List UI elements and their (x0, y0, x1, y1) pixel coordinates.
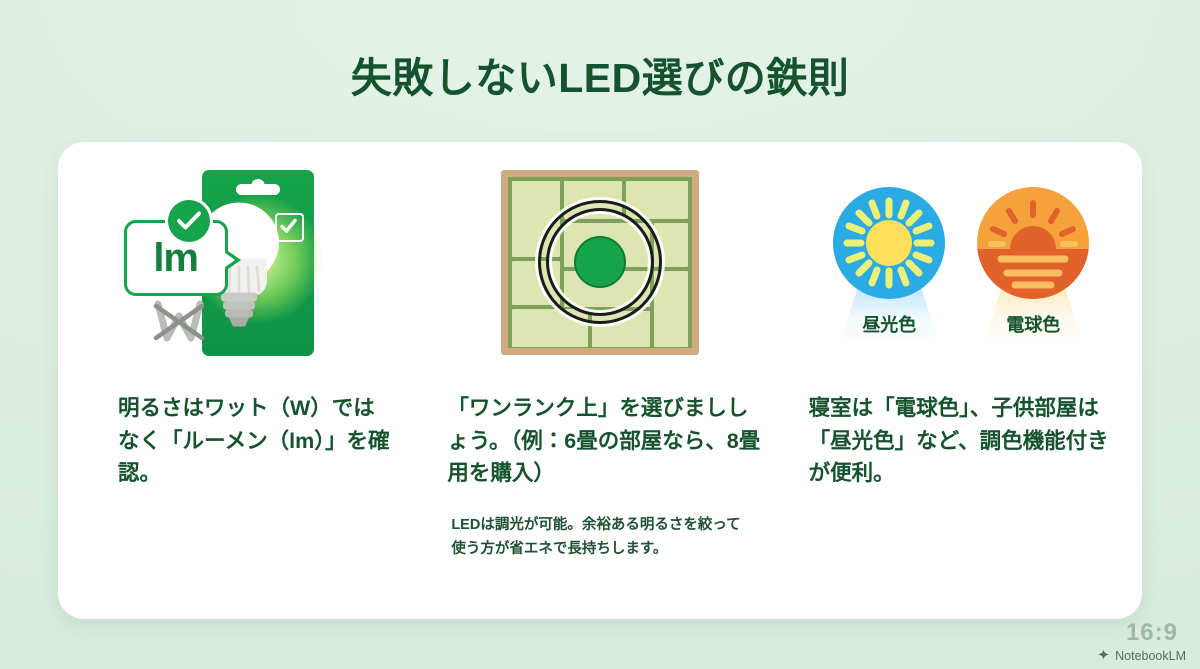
color-label: 電球色 (972, 311, 1094, 337)
notebooklm-spark-icon (1097, 648, 1110, 664)
column-lumens: LED (58, 142, 419, 619)
figure-color-temperature: 昼光色 (791, 142, 1132, 382)
crossed-watt-icon (150, 296, 208, 353)
ceiling-lamp-dot (574, 236, 626, 288)
tatami-room-diagram (501, 170, 699, 355)
page-title: 失敗しないLED選びの鉄則 (0, 44, 1200, 104)
package-hang-hole (236, 184, 280, 195)
notebooklm-watermark: NotebookLM (1097, 648, 1186, 664)
check-badge-icon (168, 200, 210, 242)
slide-canvas: 失敗しないLED選びの鉄則 LED (0, 0, 1200, 669)
lumens-bubble-text: lm (153, 238, 198, 278)
color-item-daylight: 昼光色 (828, 187, 950, 337)
content-card: LED (58, 142, 1142, 619)
package-checkbox-icon (275, 213, 304, 242)
notebooklm-label: NotebookLM (1115, 649, 1186, 663)
column-color-temperature: 昼光色 (781, 142, 1142, 619)
column-body-text: 明るさはワット（W）ではなく「ルーメン（lm）」を確認。 (118, 392, 395, 490)
column-note-text: LEDは調光が可能。余裕ある明るさを絞って使う方が省エネで長持ちします。 (451, 514, 740, 561)
sunset-icon (977, 187, 1089, 299)
columns-container: LED (58, 142, 1142, 619)
figure-led-package: LED (68, 142, 409, 382)
color-item-warm-white: 電球色 (972, 187, 1094, 337)
aspect-ratio-label: 16:9 (1126, 619, 1178, 647)
column-body-text: 寝室は「電球色」、子供部屋は「昼光色」など、調色機能付きが便利。 (809, 392, 1122, 490)
figure-tatami-room (429, 142, 770, 382)
color-label: 昼光色 (828, 311, 950, 337)
column-room-size: 「ワンランク上」を選びまししょう。（例：6畳の部屋なら、8畳用を購入） LEDは… (419, 142, 780, 619)
column-body-text: 「ワンランク上」を選びまししょう。（例：6畳の部屋なら、8畳用を購入） (447, 392, 762, 490)
sun-icon (833, 187, 945, 299)
tatami-mat (654, 271, 688, 347)
